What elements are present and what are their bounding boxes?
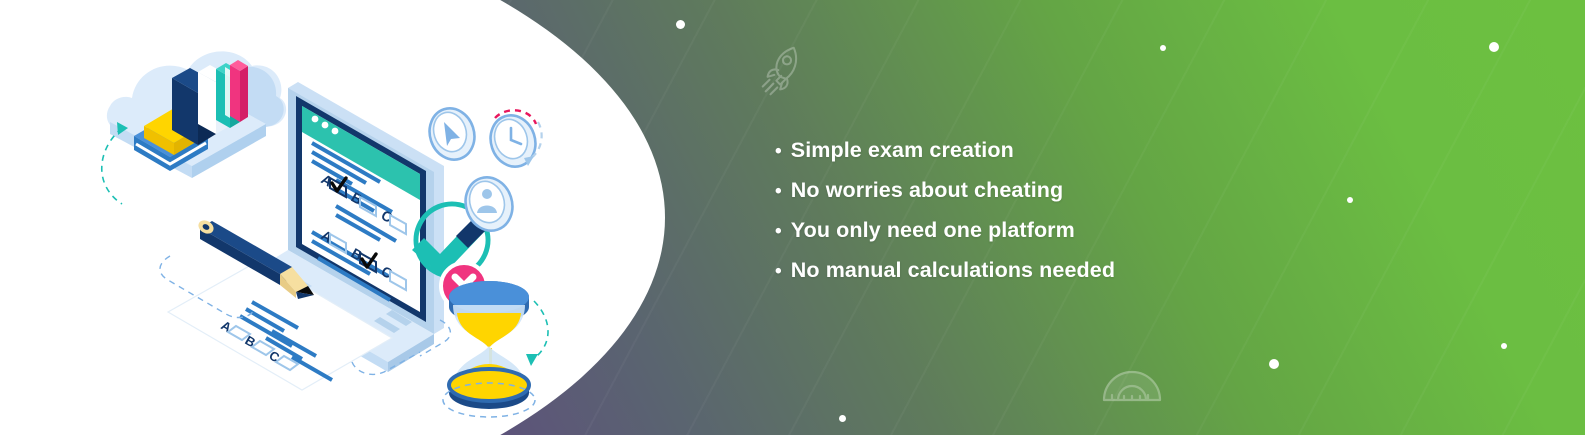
deco-dot (1501, 343, 1507, 349)
bullet-marker-icon: • (775, 222, 782, 241)
promo-banner: • Simple exam creation • No worries abou… (0, 0, 1585, 435)
list-item: • You only need one platform (775, 218, 1415, 258)
rocket-icon (755, 40, 817, 102)
list-item: • No worries about cheating (775, 178, 1415, 218)
feature-label: No manual calculations needed (791, 258, 1115, 283)
deco-dot (839, 415, 846, 422)
list-item: • No manual calculations needed (775, 258, 1415, 298)
deco-dot (1269, 359, 1279, 369)
cloud-with-books (107, 51, 286, 178)
feature-label: You only need one platform (791, 218, 1075, 243)
deco-dot (1489, 42, 1499, 52)
online-exam-illustration: A B C (40, 10, 580, 430)
bullet-marker-icon: • (775, 262, 782, 281)
feature-label: No worries about cheating (791, 178, 1063, 203)
badge-cursor (423, 102, 481, 165)
deco-dot (676, 20, 685, 29)
protractor-icon (1100, 360, 1164, 406)
feature-label: Simple exam creation (791, 138, 1014, 163)
feature-list: • Simple exam creation • No worries abou… (775, 138, 1415, 298)
bullet-marker-icon: • (775, 142, 782, 161)
deco-dot (1160, 45, 1166, 51)
hourglass (443, 281, 548, 417)
badge-clock (484, 109, 542, 172)
dashed-arrow-left (102, 128, 122, 204)
list-item: • Simple exam creation (775, 138, 1415, 178)
bullet-marker-icon: • (775, 182, 782, 201)
